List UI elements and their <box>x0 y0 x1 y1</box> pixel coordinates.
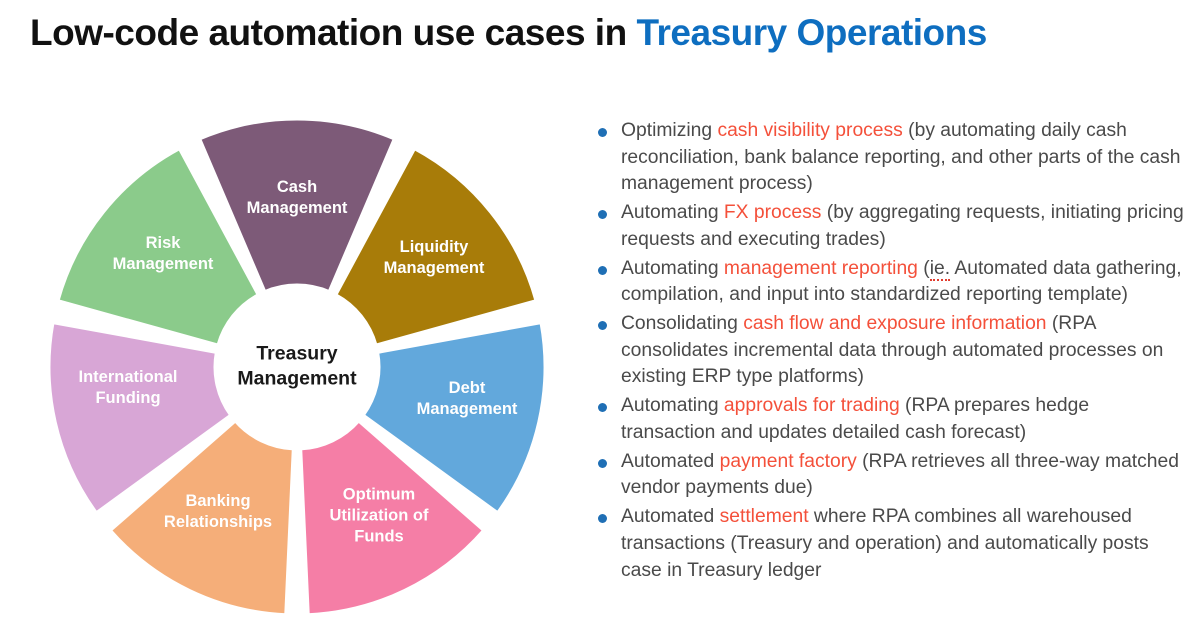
bullet-highlight: management reporting <box>724 258 918 279</box>
page-title-accent: Treasury Operations <box>636 12 986 53</box>
bullet-plain-text: Automating <box>621 258 724 279</box>
bullet-text: Consolidating cash flow and exposure inf… <box>621 311 1186 391</box>
treasury-management-donut-chart: CashManagementLiquidityManagementDebtMan… <box>44 112 554 622</box>
bullet-plain-text: Automated <box>621 506 720 527</box>
bullet-plain-text: Automating <box>621 395 724 416</box>
bullet-spellcheck-term: ie. <box>930 258 950 281</box>
bullet-highlight: cash visibility process <box>717 120 902 141</box>
bullet-dot-icon <box>598 459 607 468</box>
bullet-dot-icon <box>598 321 607 330</box>
bullet-dot-icon <box>598 210 607 219</box>
bullet-item: Optimizing cash visibility process (by a… <box>594 118 1186 198</box>
donut-center-label: Treasury Management <box>237 342 356 393</box>
bullet-plain-text: Automated <box>621 451 720 472</box>
bullet-item: Automating approvals for trading (RPA pr… <box>594 393 1186 446</box>
bullet-item: Automated payment factory (RPA retrieves… <box>594 449 1186 502</box>
bullet-plain-text: Automating <box>621 202 724 223</box>
bullet-text: Automated settlement where RPA combines … <box>621 504 1186 584</box>
bullet-highlight: approvals for trading <box>724 395 900 416</box>
bullet-item: Consolidating cash flow and exposure inf… <box>594 311 1186 391</box>
bullet-highlight: FX process <box>724 202 822 223</box>
bullet-item: Automating FX process (by aggregating re… <box>594 200 1186 253</box>
bullet-dot-icon <box>598 266 607 275</box>
bullet-item: Automated settlement where RPA combines … <box>594 504 1186 584</box>
bullet-dot-icon <box>598 128 607 137</box>
bullet-item: Automating management reporting (ie. Aut… <box>594 256 1186 309</box>
bullet-dot-icon <box>598 403 607 412</box>
bullet-text: Optimizing cash visibility process (by a… <box>621 118 1186 198</box>
donut-center-label-line1: Treasury <box>237 342 356 367</box>
bullet-highlight: settlement <box>720 506 809 527</box>
bullet-text: Automating FX process (by aggregating re… <box>621 200 1186 253</box>
bullet-dot-icon <box>598 514 607 523</box>
bullet-plain-text: ( <box>918 258 930 279</box>
bullet-plain-text: Optimizing <box>621 120 717 141</box>
use-case-bullet-list: Optimizing cash visibility process (by a… <box>594 118 1186 586</box>
bullet-plain-text: Consolidating <box>621 313 743 334</box>
bullet-text: Automating approvals for trading (RPA pr… <box>621 393 1186 446</box>
bullet-highlight: cash flow and exposure information <box>743 313 1046 334</box>
bullet-highlight: payment factory <box>720 451 857 472</box>
page-title-main: Low-code automation use cases in <box>30 12 636 53</box>
bullet-text: Automated payment factory (RPA retrieves… <box>621 449 1186 502</box>
donut-center-label-line2: Management <box>237 367 356 392</box>
bullet-text: Automating management reporting (ie. Aut… <box>621 256 1186 309</box>
page-title: Low-code automation use cases in Treasur… <box>30 10 1180 56</box>
